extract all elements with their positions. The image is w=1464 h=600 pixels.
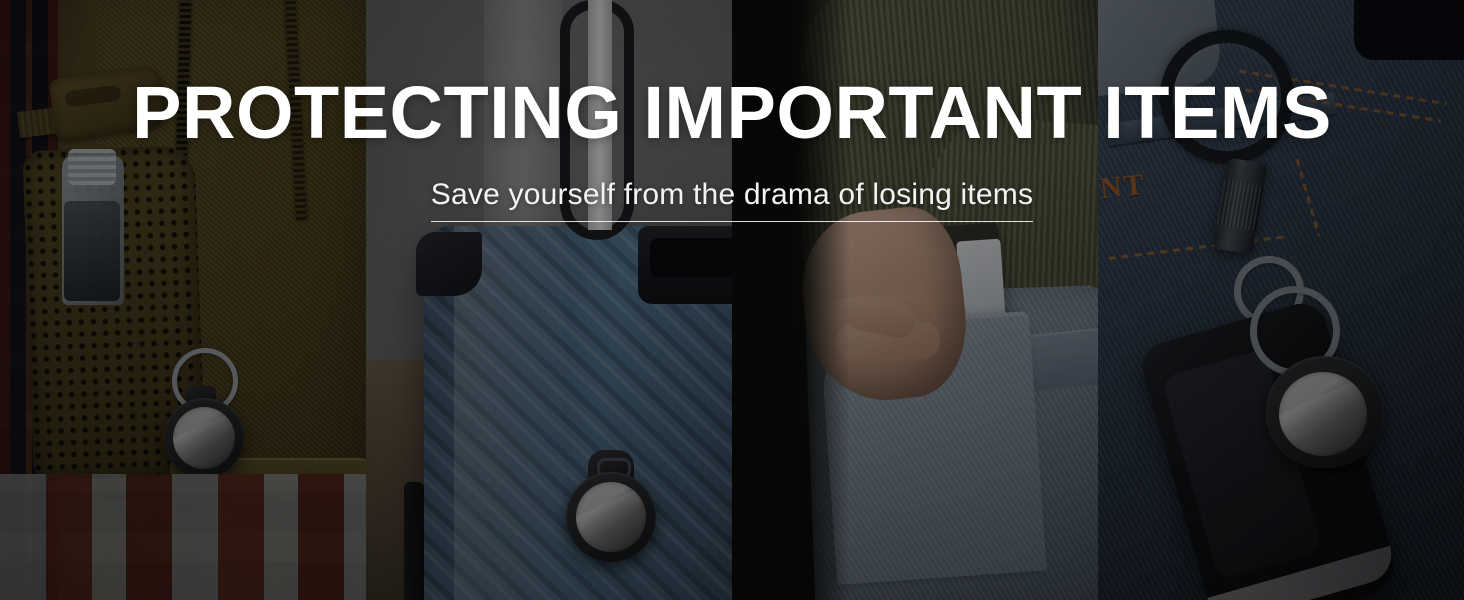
holder-shell [1266,356,1384,468]
panel-backpack [0,0,366,600]
airtag-holder-suitcase [564,450,658,562]
airtag-holder-keyring [1266,330,1386,462]
backpack-scene [0,0,366,600]
tracker-face [173,407,235,469]
panel-wallet [732,0,1098,600]
tracker-face [1279,372,1367,456]
wallet-scene [732,0,1098,600]
corner-guard [416,232,482,296]
holder-shell [566,472,656,562]
luggage-strap [588,0,612,238]
strap-webbing [588,0,612,230]
water-bottle [62,155,124,305]
car-key-scene: NT [1098,0,1464,600]
scene-shadow [732,0,850,600]
panel-strip: NT [0,0,1464,600]
panel-car-key: NT [1098,0,1464,600]
top-handle [638,226,732,304]
scene-shadow [1354,0,1464,60]
holder-shell [164,398,244,478]
airtag-holder-backpack [160,350,246,470]
telescoping-handle [404,482,424,600]
promo-banner: NT PROTECTING IMPORTANT ITEMS Save yours… [0,0,1464,600]
suitcase-scene [366,0,732,600]
panel-suitcase [366,0,732,600]
plaid-shirt-lower [0,474,366,600]
tracker-face [576,482,646,552]
